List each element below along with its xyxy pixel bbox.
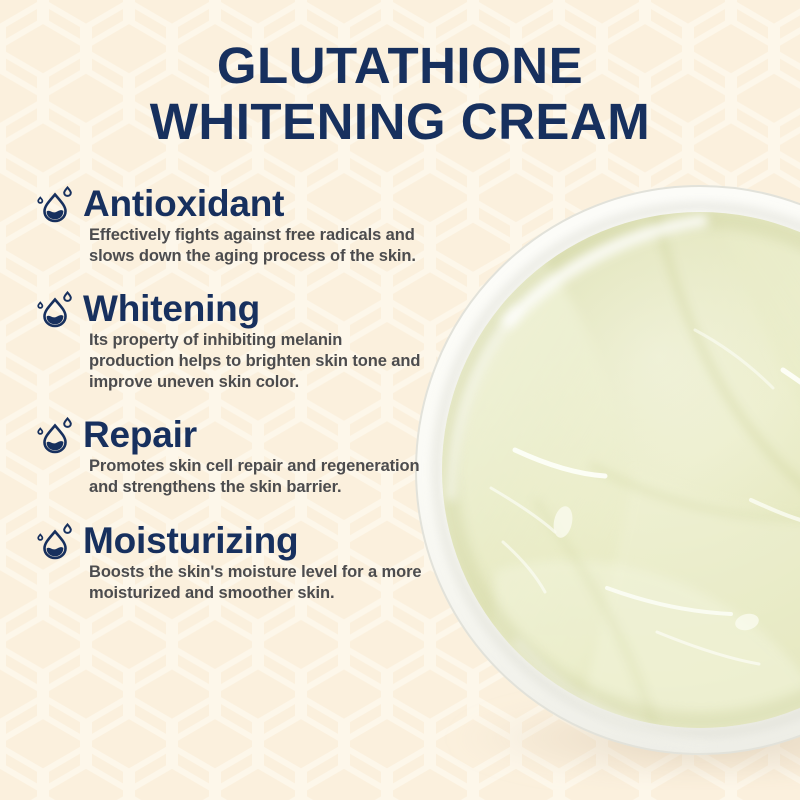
feature-heading-row: Moisturizing <box>36 521 456 561</box>
feature-heading-row: Whitening <box>36 289 456 329</box>
feature-title: Antioxidant <box>83 184 284 224</box>
feature-item-repair: Repair Promotes skin cell repair and reg… <box>36 415 456 498</box>
feature-description: Its property of inhibiting melanin produ… <box>89 330 429 393</box>
feature-list: Antioxidant Effectively fights against f… <box>36 184 456 616</box>
water-drop-icon <box>36 184 74 224</box>
water-drop-icon <box>36 415 74 455</box>
feature-item-moisturizing: Moisturizing Boosts the skin's moisture … <box>36 521 456 604</box>
title-line-2: WHITENING CREAM <box>0 94 800 150</box>
water-drop-icon <box>36 521 74 561</box>
page-title: GLUTATHIONE WHITENING CREAM <box>0 38 800 150</box>
product-infographic-poster: GLUTATHIONE WHITENING CREAM Antioxidant … <box>0 0 800 800</box>
feature-title: Repair <box>83 415 197 455</box>
feature-title: Moisturizing <box>83 521 298 561</box>
title-line-1: GLUTATHIONE <box>0 38 800 94</box>
feature-item-antioxidant: Antioxidant Effectively fights against f… <box>36 184 456 267</box>
water-drop-icon <box>36 289 74 329</box>
feature-title: Whitening <box>83 289 260 329</box>
feature-heading-row: Antioxidant <box>36 184 456 224</box>
feature-heading-row: Repair <box>36 415 456 455</box>
feature-description: Effectively fights against free radicals… <box>89 225 429 267</box>
feature-description: Boosts the skin's moisture level for a m… <box>89 562 429 604</box>
feature-description: Promotes skin cell repair and regenerati… <box>89 456 429 498</box>
feature-item-whitening: Whitening Its property of inhibiting mel… <box>36 289 456 393</box>
